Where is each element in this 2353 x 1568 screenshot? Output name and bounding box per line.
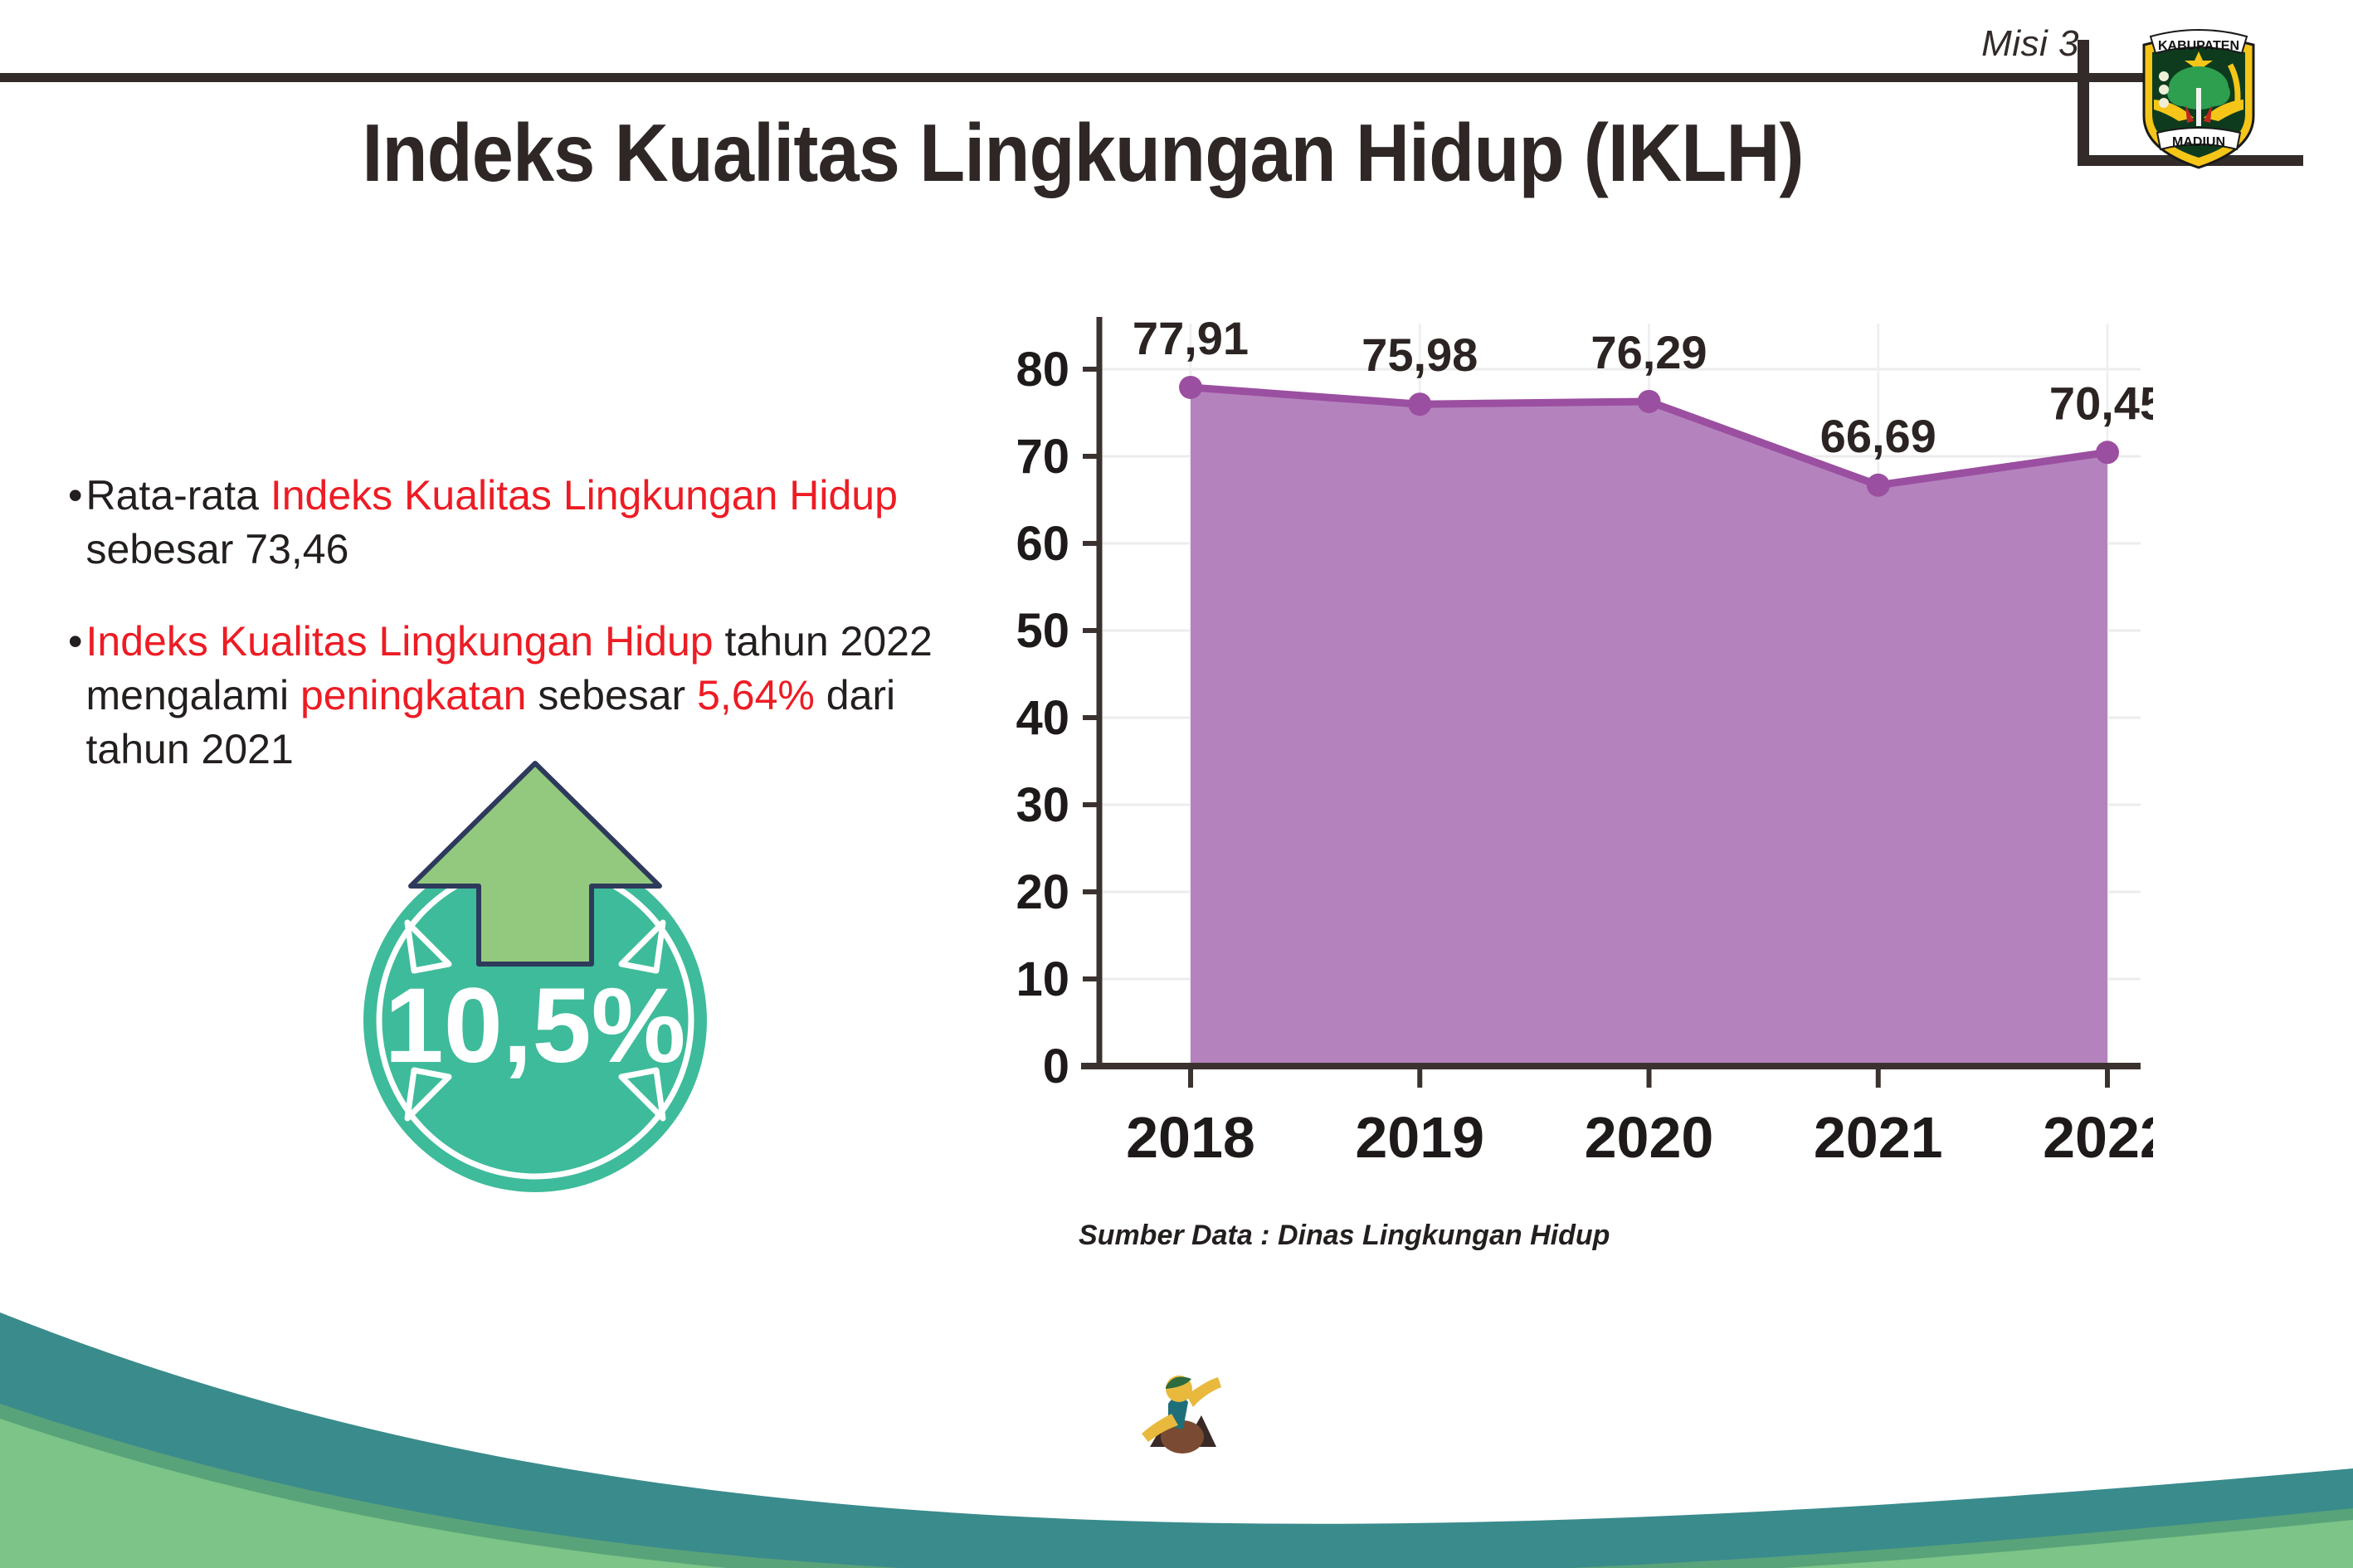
- x-tick-label: 2021: [1814, 1105, 1943, 1170]
- text-run-3: sebesar: [526, 672, 697, 718]
- x-tick-label: 2018: [1126, 1105, 1255, 1170]
- y-tick-label: 60: [1016, 517, 1069, 571]
- data-label: 66,69: [1820, 410, 1936, 462]
- data-label: 70,45: [2049, 377, 2153, 429]
- increase-badge: 10,5%: [328, 747, 743, 1203]
- text-run-0: Indeks Kualitas Lingkungan Hidup: [86, 618, 714, 665]
- y-tick-label: 80: [1016, 343, 1069, 397]
- mission-label: Misi 3: [1981, 23, 2079, 65]
- y-tick-label: 30: [1016, 778, 1069, 832]
- data-label: 76,29: [1591, 326, 1707, 378]
- crest-top-banner-text: KABUPATEN: [2158, 39, 2239, 53]
- bracket-vertical-bar: [2078, 40, 2089, 166]
- source-note: Sumber Data : Dinas Lingkungan Hidup: [1079, 1220, 1610, 1252]
- iklh-area-chart: 77,9175,9876,2966,6970,45010203040506070…: [975, 299, 2153, 1178]
- data-point: [1408, 392, 1431, 416]
- data-point: [1867, 474, 1890, 497]
- y-tick-label: 10: [1016, 952, 1069, 1006]
- footer-text: Media Infografis Data Statistik Sektoral…: [1224, 1402, 2321, 1450]
- y-tick-label: 40: [1016, 691, 1069, 745]
- badge-value: 10,5%: [385, 967, 686, 1085]
- text-run-1: Indeks Kualitas Lingkungan Hidup: [270, 472, 898, 519]
- text-run-2: peningkatan: [300, 672, 526, 718]
- y-tick-label: 50: [1016, 604, 1069, 658]
- header-rule: [0, 73, 2165, 82]
- logo-bracket: KABUPATEN MADIUN: [2078, 40, 2303, 166]
- data-point: [1638, 390, 1661, 413]
- x-tick-label: 2020: [1585, 1105, 1714, 1170]
- kabupaten-madiun-crest-icon: KABUPATEN MADIUN: [2129, 17, 2268, 174]
- crest-bottom-banner-text: MADIUN: [2172, 135, 2225, 149]
- bullet-marker-0: •: [68, 469, 83, 577]
- data-point: [1179, 376, 1202, 399]
- footer-banner: Media Infografis Data Statistik Sektoral…: [0, 1294, 2353, 1568]
- data-label: 75,98: [1362, 329, 1478, 381]
- x-tick-label: 2022: [2043, 1105, 2153, 1170]
- text-run-4: 5,64%: [697, 672, 815, 718]
- bullet-item-0: • Rata-rata Indeks Kualitas Lingkungan H…: [68, 469, 989, 577]
- x-tick-label: 2019: [1355, 1105, 1484, 1170]
- area-fill: [1191, 387, 2107, 1066]
- text-run-2: sebesar 73,46: [86, 526, 349, 572]
- page-title: Indeks Kualitas Lingkungan Hidup (IKLH): [86, 106, 2078, 200]
- y-tick-label: 70: [1016, 430, 1069, 484]
- bullet-text-0: Rata-rata Indeks Kualitas Lingkungan Hid…: [86, 469, 989, 577]
- y-tick-label: 20: [1016, 865, 1069, 919]
- data-label: 77,91: [1133, 312, 1249, 364]
- media-infografis-figure-icon: [1135, 1367, 1228, 1477]
- text-run-0: Rata-rata: [86, 472, 270, 519]
- bullet-marker-1: •: [68, 615, 83, 777]
- y-tick-label: 0: [1043, 1040, 1069, 1093]
- data-point: [2096, 441, 2119, 464]
